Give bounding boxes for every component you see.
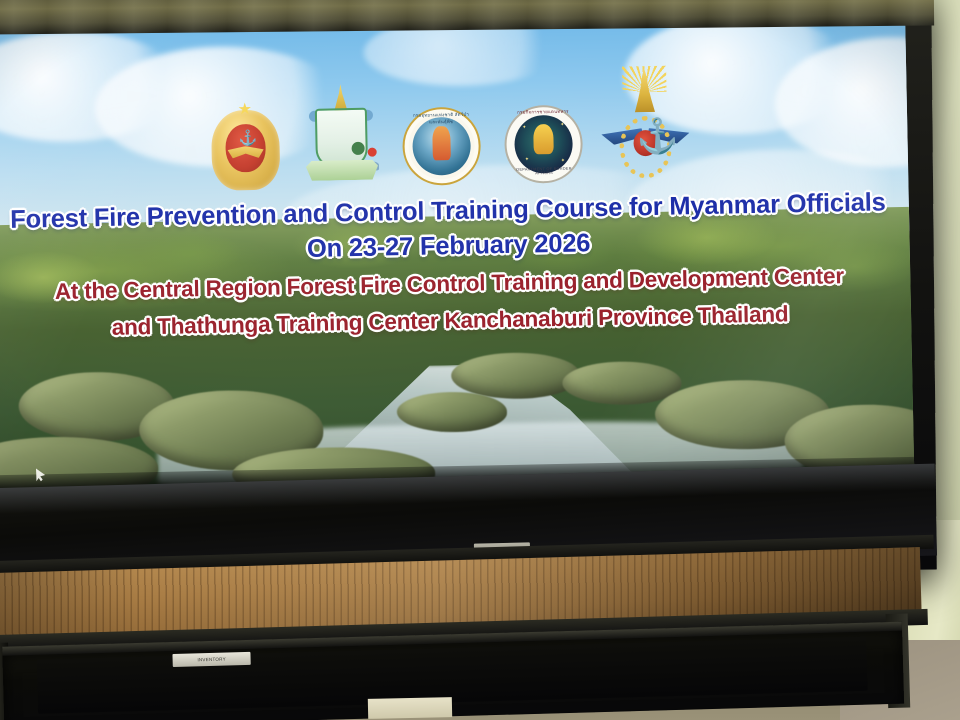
emblem-caption-top: กรมอุทยานแห่งชาติ สัตว์ป่า และพันธุ์พืช	[409, 111, 474, 138]
myanmar-defence-services-emblem-icon: ⚓ ★	[207, 95, 285, 193]
emblem-shield	[315, 108, 368, 167]
media-cabinet: INVENTORY	[0, 535, 938, 720]
slide-emblem-row: ⚓ ★	[206, 63, 688, 193]
emblem-ribbon-banner	[306, 160, 378, 181]
thai-department-of-national-parks-emblem-icon: กรมอุทยานแห่งชาติ สัตว์ป่า และพันธุ์พืช	[399, 103, 485, 189]
star-spark-icon: ✦	[522, 126, 526, 130]
cabinet-asset-label: INVENTORY	[172, 652, 250, 667]
emblem-caption-top: กรมกิจการชายแดนทหาร	[509, 108, 577, 116]
myanmar-state-seal-shield-emblem-icon	[300, 85, 382, 191]
emblem-caption-bottom: DEPARTMENT OF BORDER AFFAIRS	[510, 167, 578, 176]
star-spark-icon: ✦	[525, 157, 529, 161]
star-spark-icon: ✦	[561, 159, 565, 163]
slide-text-block: Forest Fire Prevention and Control Train…	[0, 185, 911, 347]
mossy-boulder	[396, 391, 507, 433]
paper-scrap-on-floor	[368, 697, 452, 719]
thai-department-of-border-affairs-emblem-icon: ✦ ✦ ✦ ✦ กรมกิจการชายแดนทหาร DEPARTMENT O…	[501, 101, 587, 187]
emblem-red-disc	[368, 148, 377, 157]
television-screen[interactable]: ⚓ ★	[0, 7, 914, 491]
anchor-icon: ⚓	[636, 114, 655, 160]
star-spark-icon: ✦	[560, 123, 564, 127]
winged-deity-icon	[533, 124, 554, 154]
royal-thai-armed-forces-headquarters-emblem-icon: ⚓	[602, 69, 688, 185]
photo-scene: ⚓ ★	[0, 0, 960, 720]
star-icon: ★	[237, 102, 253, 118]
tree-icon	[351, 142, 364, 155]
anchor-icon: ⚓	[238, 130, 252, 148]
